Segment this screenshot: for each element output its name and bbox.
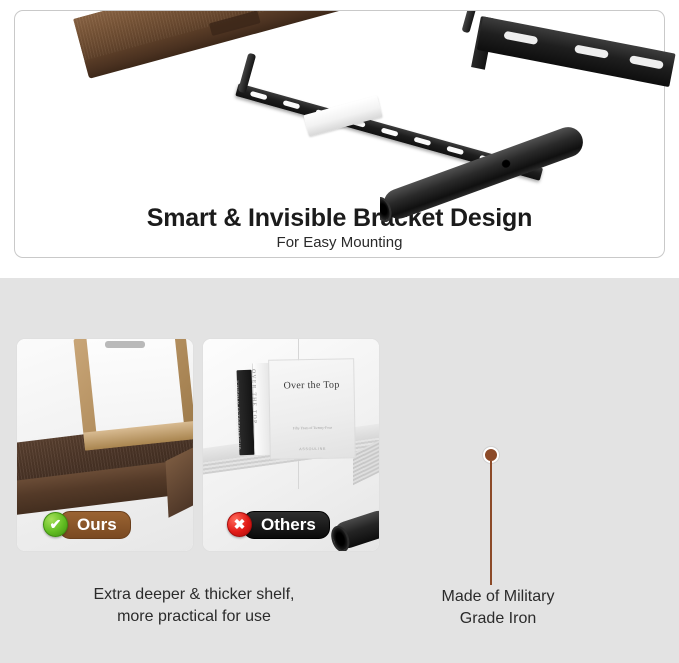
book-cover-subtitle: Fifty Years of Twenty-Four <box>270 425 354 432</box>
bracket-rod-end <box>380 195 395 225</box>
badge-others-label: Others <box>243 511 330 539</box>
panel-ours: ✔ Ours <box>16 338 194 552</box>
badge-ours: ✔ Ours <box>43 511 131 539</box>
book-white-spine-text: OVER THE TOP <box>250 369 258 459</box>
frame-hardware <box>105 341 145 348</box>
caption-left-line1: Extra deeper & thicker shelf, <box>14 584 374 606</box>
caption-left: Extra deeper & thicker shelf, more pract… <box>14 584 374 627</box>
bracket-wall-plate <box>477 16 676 87</box>
caption-right-line2: Grade Iron <box>378 608 618 630</box>
picture-frame <box>73 338 194 451</box>
badge-ours-label: Ours <box>59 511 131 539</box>
callout-line <box>490 461 492 585</box>
caption-right: Made of Military Grade Iron <box>378 586 618 629</box>
bracket-tube-peek <box>330 507 380 551</box>
bracket-screw-hole <box>500 157 512 169</box>
badge-others: ✖ Others <box>227 511 330 539</box>
book-cover-title: Over the Top <box>270 379 354 391</box>
book-cover: Over the Top Fifty Years of Twenty-Four … <box>268 358 356 459</box>
caption-left-line2: more practical for use <box>14 606 374 628</box>
panel-others: KINFOLK ENTREPRENEUR OVER THE TOP Over t… <box>202 338 380 552</box>
bracket-rod <box>380 123 587 223</box>
bracket-photo <box>380 0 679 300</box>
caption-right-line1: Made of Military <box>378 586 618 608</box>
book-cover-publisher: ASSOULINE <box>271 446 355 451</box>
